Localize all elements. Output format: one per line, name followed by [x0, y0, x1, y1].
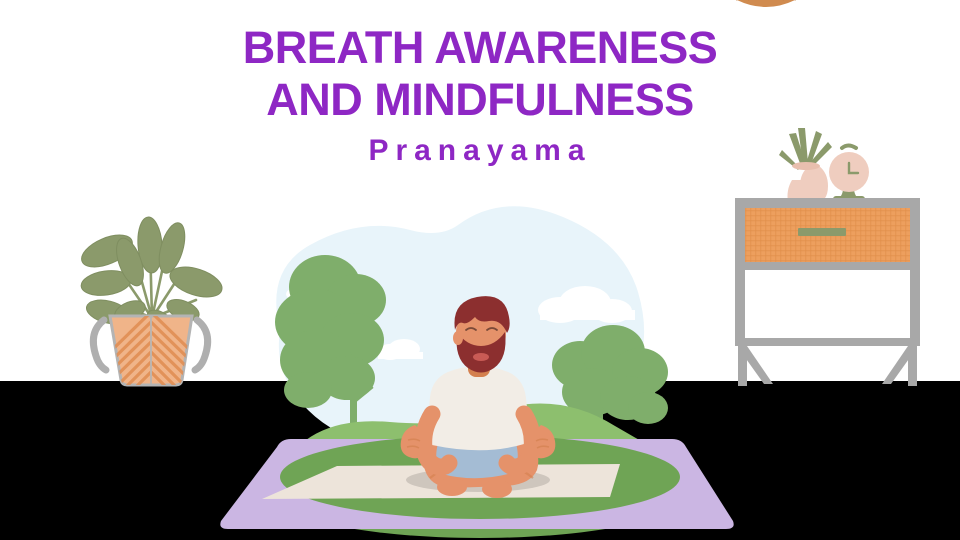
title-block: BREATH AWARENESS AND MINDFULNESS Pranaya…: [0, 22, 960, 168]
title-line-1: BREATH AWARENESS: [0, 22, 960, 74]
title-line-2: AND MINDFULNESS: [0, 74, 960, 126]
subtitle: Pranayama: [0, 134, 960, 168]
slide-canvas: BREATH AWARENESS AND MINDFULNESS Pranaya…: [0, 0, 960, 540]
